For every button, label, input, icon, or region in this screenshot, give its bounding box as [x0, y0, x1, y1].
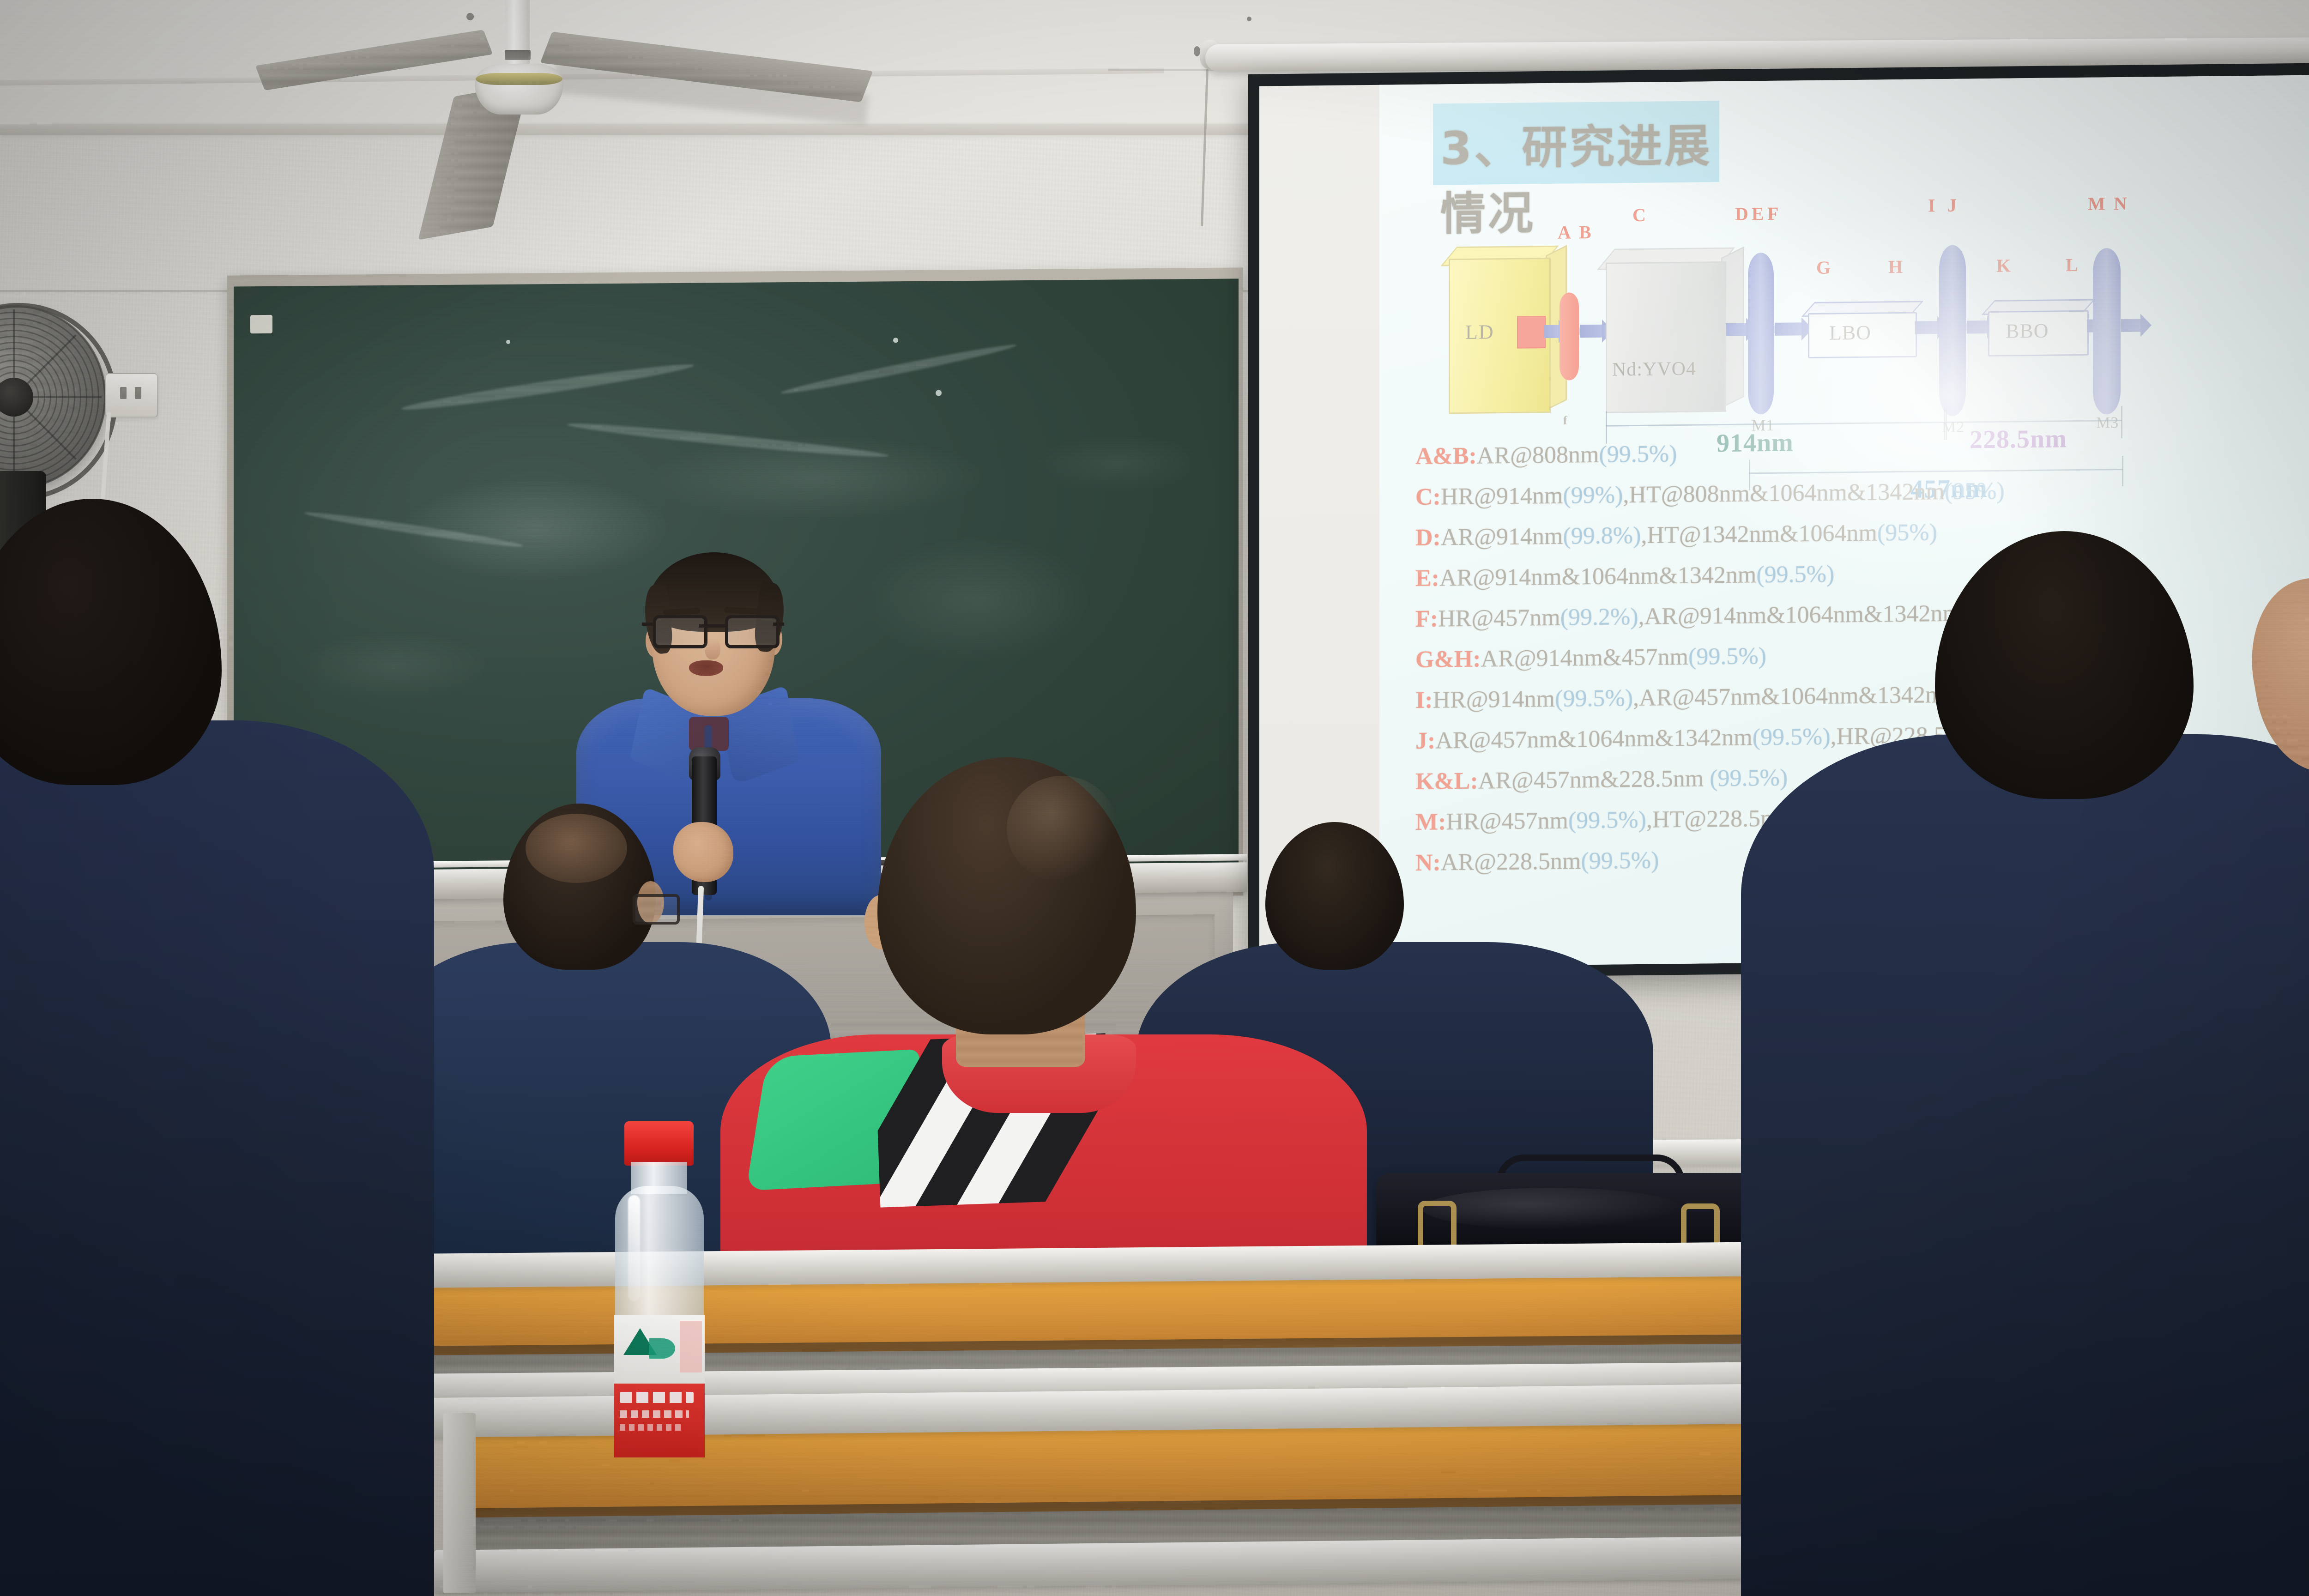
spec-body: AR@914nm — [1441, 523, 1563, 551]
chalk-dot — [893, 338, 898, 343]
spec-key: F: — [1415, 605, 1438, 632]
wall-mounted-fan — [0, 305, 115, 513]
surface-letter-G: G — [1816, 257, 1831, 278]
surface-letter-K: K — [1996, 254, 2011, 276]
beam-arrow-1 — [1544, 325, 1560, 338]
surface-letter-E: E — [1752, 203, 1765, 224]
focusing-lens — [1559, 292, 1579, 380]
foreground-viewer-right — [1686, 531, 2309, 1596]
navy-member-scalp — [526, 814, 627, 883]
eyeglass-bridge — [699, 624, 727, 628]
spec-body2: ,HT@808nm&1064nm&1342nm — [1623, 478, 1944, 508]
beam-arrow-6 — [1967, 320, 1989, 334]
surface-letter-D: D — [1735, 203, 1749, 224]
gain-crystal-label: Nd:YVO4 — [1612, 358, 1696, 381]
wall-outlet[interactable] — [105, 373, 158, 417]
spec-body: HR@914nm — [1441, 483, 1563, 510]
presenter-mouth — [689, 660, 723, 676]
foreground-right-torso — [1741, 734, 2309, 1596]
mirror-M3 — [2093, 248, 2121, 415]
eyeglass-lens-right — [725, 615, 780, 648]
spec-pct: (99.2%) — [1560, 604, 1638, 631]
span-914-tick-left — [1606, 411, 1607, 444]
wall-speck-2 — [1247, 17, 1251, 21]
ld-emitter — [1517, 316, 1546, 349]
spec-body: AR@914nm&457nm — [1481, 644, 1688, 672]
chalk-dot — [936, 390, 942, 396]
surface-letter-F: F — [1767, 203, 1779, 224]
surface-letter-J: J — [1947, 194, 1957, 216]
bottle-subtext-1 — [620, 1410, 689, 1418]
spec-key: G&H: — [1415, 646, 1481, 673]
bbo-label: BBO — [2006, 319, 2049, 343]
surface-letter-H: H — [1888, 256, 1903, 278]
spec-body: AR@457nm&228.5nm — [1478, 765, 1710, 794]
fan-motor-housing — [475, 64, 563, 115]
span-228-tick-right — [2121, 406, 2122, 438]
navy-member-glasses-icon — [633, 894, 680, 925]
spec-key: E: — [1415, 565, 1439, 592]
foreground-right-head — [1935, 531, 2194, 799]
water-bottle[interactable] — [610, 1121, 711, 1454]
eyeglass-lens-left — [653, 615, 707, 648]
ld-label: LD — [1465, 320, 1494, 344]
fan-rod-band — [505, 50, 531, 60]
spec-pct2: (95%) — [1945, 478, 2005, 505]
foreground-viewer-left — [0, 499, 480, 1596]
span-228-tick-left — [1946, 408, 1947, 440]
surface-letter-C: C — [1632, 204, 1646, 226]
eyeglass-temple-right — [773, 623, 784, 626]
surface-letter-M: M — [2088, 193, 2106, 214]
outlet-slot — [120, 387, 127, 399]
span-914-tick-right — [1944, 408, 1945, 440]
fan-gold-ring — [476, 73, 562, 85]
mirror-M2 — [1939, 245, 1966, 417]
ceiling-fan — [351, 0, 905, 134]
spec-key: I: — [1415, 687, 1433, 713]
chalk-dot — [506, 340, 510, 344]
surface-letter-I: I — [1928, 194, 1936, 216]
bag-buckle-left — [1418, 1201, 1457, 1251]
spec-body: HR@457nm — [1438, 605, 1560, 632]
beam-arrow-3 — [1726, 323, 1748, 336]
beam-arrow-output — [2121, 319, 2142, 332]
spec-line-A-B: A&B:AR@808nm(99.5%) — [1415, 435, 2309, 469]
surface-letter-L: L — [2066, 254, 2079, 276]
eyeglass-temple-left — [642, 623, 653, 626]
spec-pct: (99%) — [1563, 482, 1623, 508]
surface-letter-N: N — [2114, 193, 2128, 214]
bottle-subtext-2 — [620, 1424, 684, 1431]
spec-key: J: — [1415, 728, 1435, 754]
foreground-left-torso — [0, 720, 434, 1596]
surface-letter-B: B — [1579, 221, 1592, 243]
wall-speck — [1194, 46, 1200, 56]
surface-letter-A: A — [1558, 221, 1572, 243]
blackboard-sticker — [250, 315, 272, 333]
spec-pct: (99.5%) — [1555, 685, 1633, 712]
gain-crystal — [1606, 261, 1726, 413]
foreground-left-head — [0, 499, 222, 785]
optics-diagram: LD A B f C Nd:YVO4 — [1421, 188, 2206, 427]
spec-pct: (99.8%) — [1563, 522, 1641, 550]
bottle-highlight — [628, 1195, 640, 1301]
spec-line-C: C:HR@914nm(99%),HT@808nm&1064nm&1342nm(9… — [1415, 475, 2309, 509]
bottle-label-accent — [680, 1321, 702, 1372]
beam-arrow-4 — [1775, 322, 1803, 336]
bottle-brand-text — [620, 1392, 694, 1403]
mirror-M3-label: M3 — [2096, 414, 2119, 432]
spec-key: C: — [1415, 484, 1441, 510]
mirror-M1 — [1748, 253, 1774, 415]
beam-arrow-5 — [1915, 321, 1939, 334]
lbo-label: LBO — [1829, 321, 1871, 345]
outlet-slot — [135, 387, 141, 399]
bottle-cap[interactable] — [624, 1121, 694, 1166]
bottle-logo-swoosh-icon — [649, 1338, 675, 1359]
bag-leather-sheen — [1422, 1188, 1681, 1229]
spec-key: A&B: — [1415, 443, 1477, 470]
beam-arrow-2 — [1580, 325, 1604, 338]
spec-key: D: — [1415, 524, 1441, 551]
presenter-nose — [705, 638, 720, 659]
lecture-hall-photo: 3、研究进展情况 LD A B f — [0, 0, 2309, 1596]
spec-body: AR@808nm — [1477, 441, 1599, 469]
lens-sublabel: f — [1563, 414, 1568, 428]
red-member-hair-highlight — [1007, 776, 1118, 882]
spec-pct: (99.5%) — [1599, 441, 1677, 468]
spec-key: K&L: — [1415, 768, 1478, 795]
spec-body: HR@914nm — [1433, 686, 1555, 713]
